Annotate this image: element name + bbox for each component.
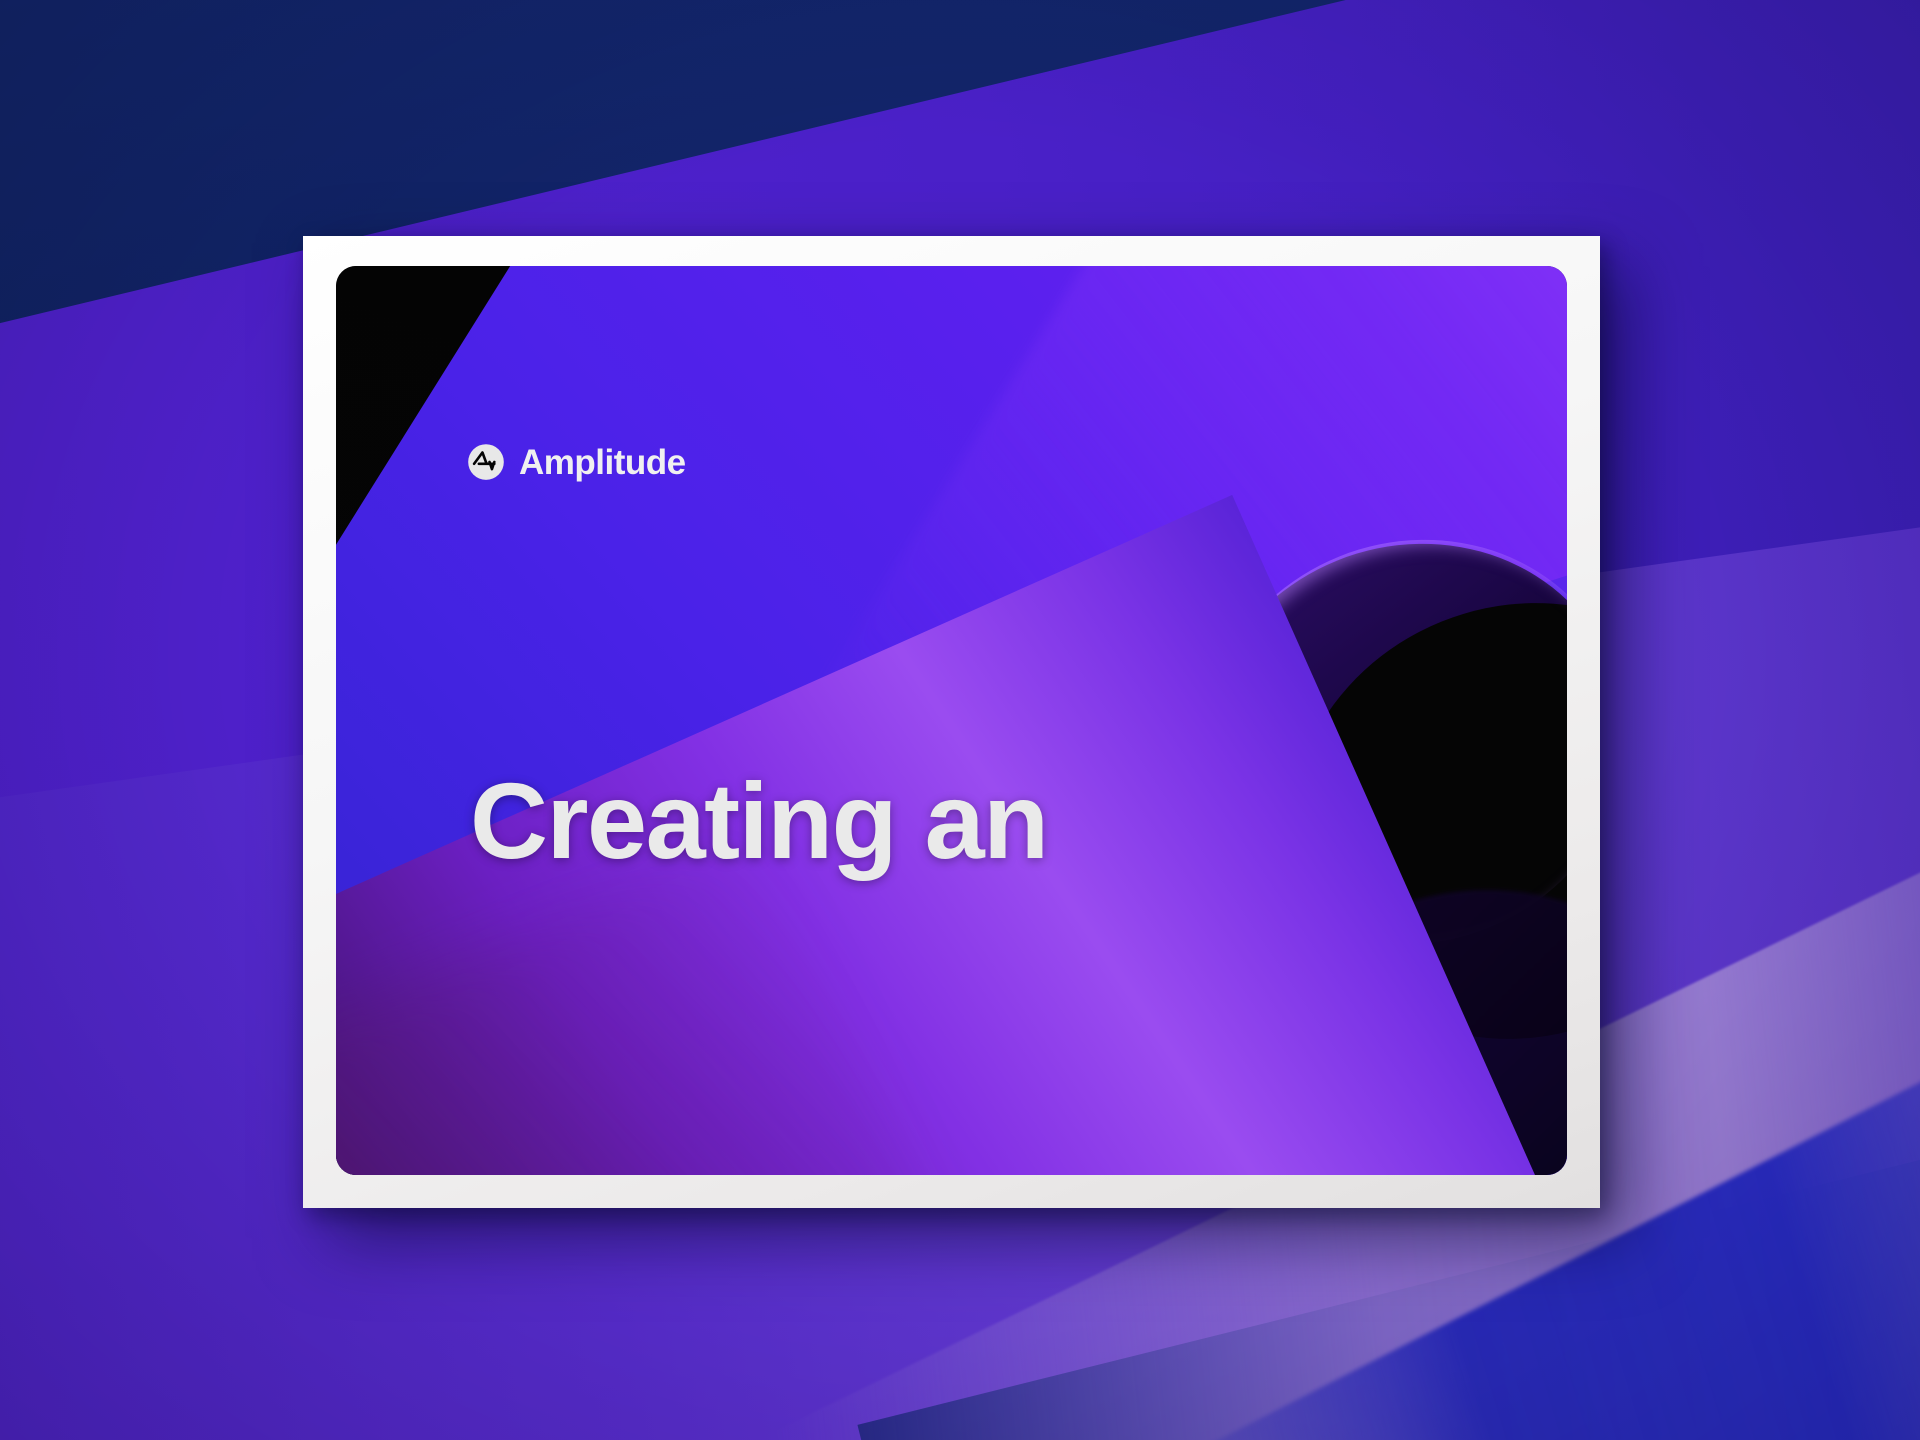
page-title: Creating an AI-Ready Data Foundation [470, 462, 1183, 1175]
poster-frame: Amplitude Creating an AI-Ready Data Foun… [303, 236, 1600, 1208]
headline-line-1: Creating an [470, 749, 1183, 893]
slide-canvas: Amplitude Creating an AI-Ready Data Foun… [336, 266, 1567, 1175]
screenshot-root: Amplitude Creating an AI-Ready Data Foun… [0, 0, 1920, 1440]
slide-content: Amplitude Creating an AI-Ready Data Foun… [336, 266, 1567, 1175]
